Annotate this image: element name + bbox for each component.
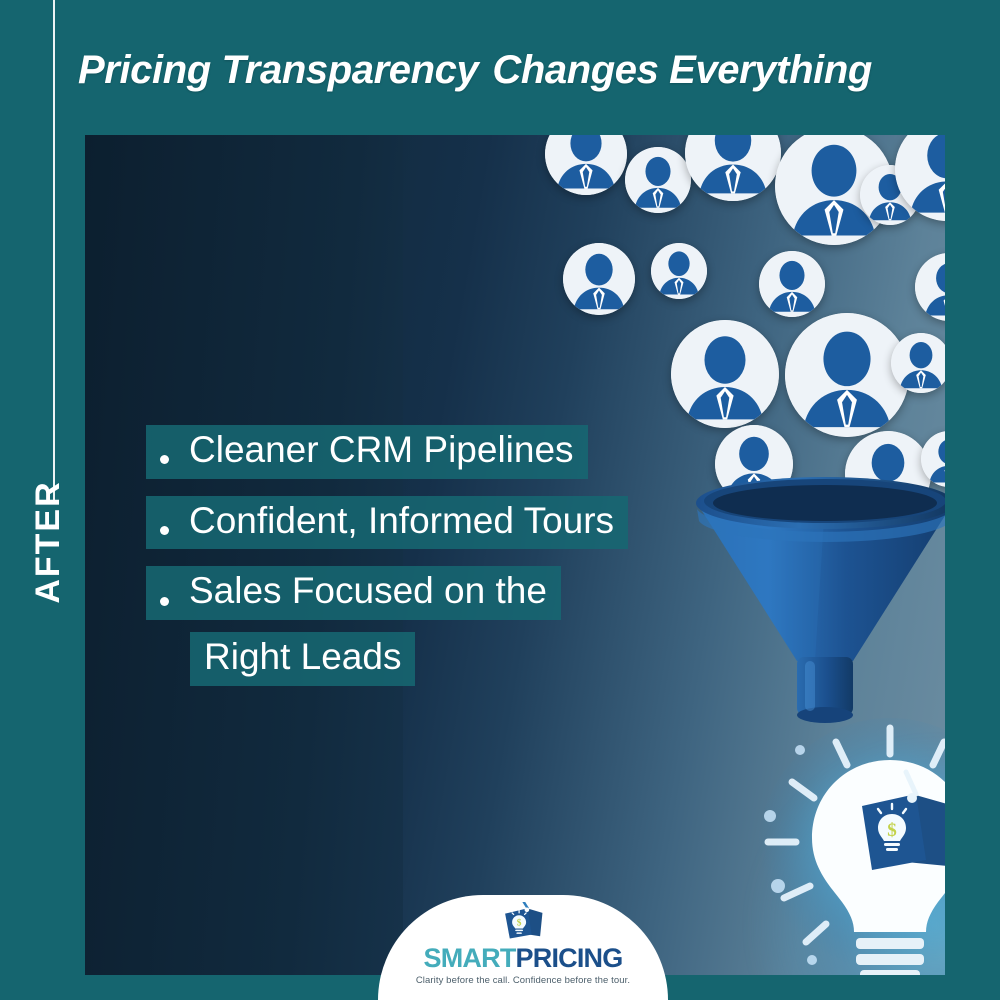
section-label-after: AFTER [26, 462, 70, 622]
lightbulb-icon: $ [740, 710, 945, 975]
brand-wordmark: SMARTPRICING [424, 945, 623, 972]
svg-text:$: $ [517, 918, 522, 929]
brand-word-smart: SMART [424, 943, 516, 973]
poster-canvas: Pricing TransparencyChanges Everything A… [0, 0, 1000, 1000]
list-item: Sales Focused on theRight Leads [146, 566, 766, 685]
page-title-part2: Changes Everything [492, 48, 872, 92]
benefit-text-highlight-continued: Right Leads [190, 632, 415, 686]
person-avatar-icon [685, 135, 781, 201]
bullet-dot-icon [160, 455, 169, 464]
bullet-dot-icon [160, 597, 169, 606]
brand-tagline: Clarity before the call. Confidence befo… [416, 975, 630, 986]
list-item: Confident, Informed Tours [146, 496, 766, 550]
person-avatar-icon [759, 251, 825, 317]
person-avatar-icon [891, 333, 945, 393]
person-avatar-icon [563, 243, 635, 315]
person-avatar-icon [625, 147, 691, 213]
benefit-list: Cleaner CRM PipelinesConfident, Informed… [146, 425, 766, 703]
benefit-label: Cleaner CRM Pipelines [189, 428, 574, 472]
benefit-label-continued: Right Leads [204, 635, 401, 679]
bullet-dot-icon [160, 526, 169, 535]
brand-word-pricing: PRICING [516, 943, 623, 973]
benefit-text-highlight: Confident, Informed Tours [146, 496, 628, 550]
benefit-text-highlight: Cleaner CRM Pipelines [146, 425, 588, 479]
rail-divider-line [53, 0, 55, 500]
page-title: Pricing TransparencyChanges Everything [78, 48, 958, 93]
svg-text:$: $ [887, 820, 897, 841]
person-avatar-icon [651, 243, 707, 299]
person-avatar-icon [915, 253, 945, 321]
person-avatar-icon [785, 313, 909, 437]
price-tag-lightbulb-icon: $ [495, 902, 551, 944]
page-title-part1: Pricing Transparency [78, 48, 478, 92]
benefit-label: Confident, Informed Tours [189, 499, 614, 543]
person-avatar-icon [671, 320, 779, 428]
list-item: Cleaner CRM Pipelines [146, 425, 766, 479]
benefit-label: Sales Focused on the [189, 569, 547, 613]
benefit-text-highlight: Sales Focused on the [146, 566, 561, 620]
person-avatar-icon [545, 135, 627, 195]
